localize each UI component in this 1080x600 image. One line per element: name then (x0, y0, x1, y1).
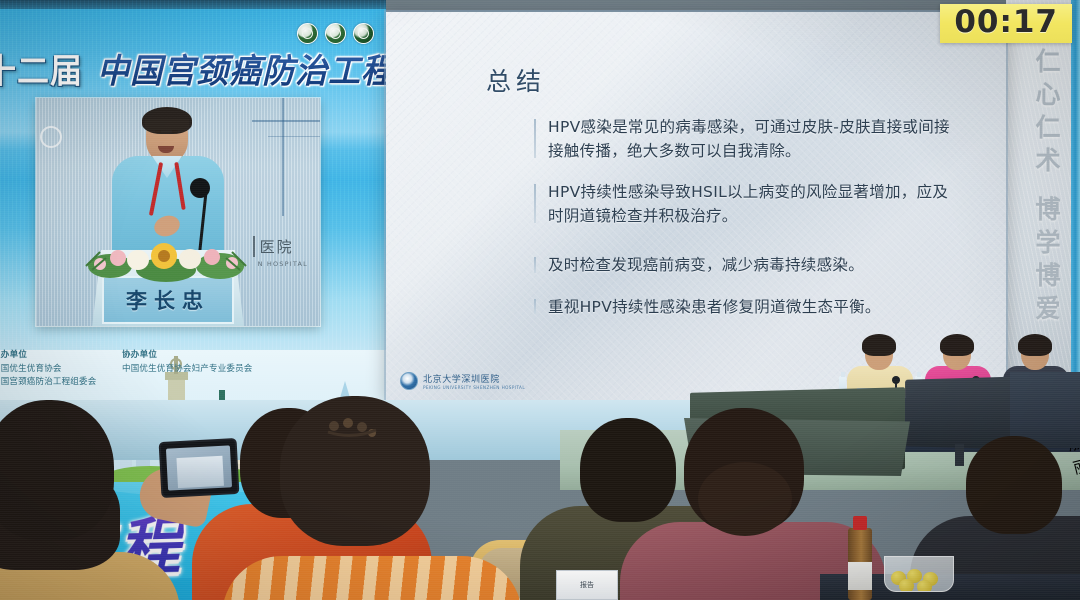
co-organizer-block: 协办单位 中国优生优育协会妇产专业委员会 (122, 348, 253, 376)
speaker-hospital-cn: 医院 (253, 236, 308, 257)
co-organizer-line-1: 中国优生优育协会妇产专业委员会 (122, 363, 253, 376)
host-organizer-line-2: 中国宫颈癌防治工程组委会 (0, 376, 96, 389)
speaker-backdrop-line-h2 (268, 136, 320, 137)
audience-suit-head (966, 436, 1062, 534)
podium-flower-arrangement (80, 226, 252, 282)
association-logo-1-icon (297, 23, 318, 44)
hospital-logo-icon (400, 372, 418, 390)
slide-bullet-2: HPV持续性感染导致HSIL以上病变的风险显著增加，应及时阴道镜检查并积极治疗。 (534, 181, 954, 228)
speaker-hair (142, 107, 192, 134)
panelist-2-hair (940, 334, 974, 356)
co-organizer-header: 协办单位 (122, 348, 253, 360)
slide-bullet-list: HPV感染是常见的病毒感染，可通过皮肤-皮肤直接或间接接触传播，绝大多数可以自我… (534, 116, 954, 337)
banner-title-prefix: 十二届 (0, 51, 83, 91)
slide-footer-logo: 北京大学深圳医院 PEKING UNIVERSITY SHENZHEN HOSP… (400, 372, 525, 390)
speaker-backdrop-line-h (252, 120, 320, 122)
slide-bullet-3: 及时检查发现癌前病变，减少病毒持续感染。 (534, 254, 954, 278)
fruit-5 (917, 580, 932, 592)
speaker-backdrop-line-v (282, 98, 284, 216)
panelist-3-hair (1018, 334, 1052, 356)
audience-person-tan (0, 400, 140, 600)
speaker-eye-right (172, 130, 178, 133)
association-logo-3-icon (353, 23, 374, 44)
fruit-bowl (884, 556, 954, 592)
microphone-icon (190, 178, 210, 198)
audience-person-striped (246, 396, 476, 600)
slide-bullet-1: HPV感染是常见的病毒感染，可通过皮肤-皮肤直接或间接接触传播，绝大多数可以自我… (534, 116, 954, 163)
host-organizer-line-1: 中国优生优育协会 (0, 363, 96, 376)
countdown-timer: 00:17 (940, 4, 1072, 43)
audience-striped-shoulders (222, 556, 522, 600)
podium-speaker-name: 李长忠 (104, 278, 232, 322)
conference-photo: 十二届 中国宫颈癌防治工程 学术年会 (0, 0, 1080, 600)
slide-bullet-4: 重视HPV持续性感染患者修复阴道微生态平衡。 (534, 296, 954, 320)
host-organizer-block: 主办单位 中国优生优育协会 中国宫颈癌防治工程组委会 (0, 348, 96, 389)
soy-sauce-bottle (848, 528, 872, 600)
audience-tan-head (0, 400, 114, 540)
banner-title: 十二届 中国宫颈癌防治工程 学术年会 (0, 45, 386, 93)
tablet-viewfinder (176, 456, 224, 488)
audience-person-maroon (636, 408, 866, 600)
wall-motto-top: 仁心仁术 (1028, 48, 1064, 180)
bottle-cap (853, 516, 867, 530)
bottle-label (848, 562, 872, 590)
tablet-screen[interactable] (166, 445, 232, 490)
podium-nameplate: 李长忠 (102, 276, 234, 324)
wall-motto-bottom: 博学博爱 (1028, 196, 1064, 328)
speaker-backdrop-hospital: 医院 N HOSPITAL (253, 236, 308, 268)
podium-emblem-icon (40, 126, 62, 148)
host-organizer-header: 主办单位 (0, 348, 96, 360)
hair-clip-icon (324, 418, 380, 440)
speaker-eye-left (155, 130, 161, 133)
fruit-4 (899, 579, 914, 592)
panelist-1-hair (862, 334, 896, 356)
slide-title: 总结 (486, 62, 546, 98)
association-logo-2-icon (325, 23, 346, 44)
recording-tablet[interactable] (159, 438, 240, 498)
banner-association-logos (297, 23, 374, 44)
speaker-hospital-en: N HOSPITAL (253, 260, 308, 268)
slide-footer-logo-cn: 北京大学深圳医院 (423, 372, 525, 385)
speaker-video-screen: 李长忠 医院 N HOSPITAL (36, 98, 320, 326)
foreground-name-card: 报告 (556, 570, 618, 600)
slide-footer-logo-en: PEKING UNIVERSITY SHENZHEN HOSPITAL (423, 385, 525, 390)
audience-maroon-hair-bun (698, 462, 792, 536)
banner-title-calligraphy: 中国宫颈癌防治工程 (95, 51, 386, 91)
